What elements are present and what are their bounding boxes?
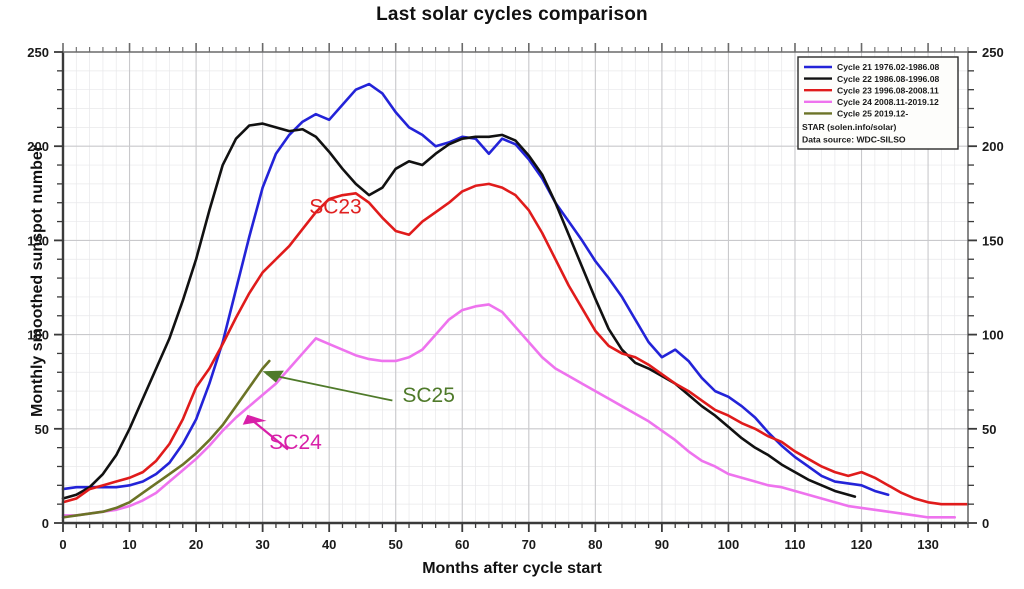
x-tick-label: 120 bbox=[851, 537, 873, 552]
x-tick-label: 30 bbox=[255, 537, 269, 552]
y-tick-label-right: 250 bbox=[982, 45, 1004, 60]
chart-figure: Last solar cycles comparison Monthly smo… bbox=[0, 0, 1024, 589]
y-tick-label-left: 200 bbox=[27, 139, 49, 154]
x-tick-label: 90 bbox=[655, 537, 669, 552]
x-tick-label: 0 bbox=[59, 537, 66, 552]
annotation-sc25: SC25 bbox=[402, 384, 455, 407]
y-tick-label-right: 200 bbox=[982, 139, 1004, 154]
plot-canvas: 0102030405060708090100110120130005050100… bbox=[0, 0, 1024, 589]
legend-label-2: Cycle 22 1986.08-1996.08 bbox=[837, 74, 939, 84]
x-tick-label: 130 bbox=[917, 537, 939, 552]
legend-label-4: Cycle 24 2008.11-2019.12 bbox=[837, 97, 939, 107]
x-tick-label: 80 bbox=[588, 537, 602, 552]
x-tick-label: 110 bbox=[784, 537, 805, 552]
y-tick-label-right: 100 bbox=[982, 328, 1004, 343]
y-tick-label-left: 0 bbox=[42, 516, 49, 531]
legend: Cycle 21 1976.02-1986.08Cycle 22 1986.08… bbox=[798, 57, 958, 149]
x-tick-label: 10 bbox=[122, 537, 136, 552]
legend-label-5: Cycle 25 2019.12- bbox=[837, 109, 908, 119]
x-tick-label: 100 bbox=[718, 537, 740, 552]
x-tick-label: 60 bbox=[455, 537, 469, 552]
legend-label-1: Cycle 21 1976.02-1986.08 bbox=[837, 62, 939, 72]
y-tick-label-right: 150 bbox=[982, 233, 1004, 248]
annotation-sc23: SC23 bbox=[309, 195, 362, 218]
annotation-sc24: SC24 bbox=[269, 431, 322, 454]
legend-note-2: Data source: WDC-SILSO bbox=[802, 135, 906, 145]
y-tick-label-left: 100 bbox=[27, 328, 49, 343]
x-tick-label: 70 bbox=[522, 537, 536, 552]
y-tick-label-left: 50 bbox=[35, 422, 49, 437]
y-tick-label-right: 50 bbox=[982, 422, 996, 437]
legend-note-1: STAR (solen.info/solar) bbox=[802, 122, 897, 132]
x-tick-label: 40 bbox=[322, 537, 336, 552]
x-tick-label: 50 bbox=[388, 537, 402, 552]
y-tick-label-left: 150 bbox=[27, 233, 49, 248]
legend-label-3: Cycle 23 1996.08-2008.11 bbox=[837, 85, 939, 95]
y-tick-label-left: 250 bbox=[27, 45, 49, 60]
y-tick-label-right: 0 bbox=[982, 516, 989, 531]
x-tick-label: 20 bbox=[189, 537, 203, 552]
